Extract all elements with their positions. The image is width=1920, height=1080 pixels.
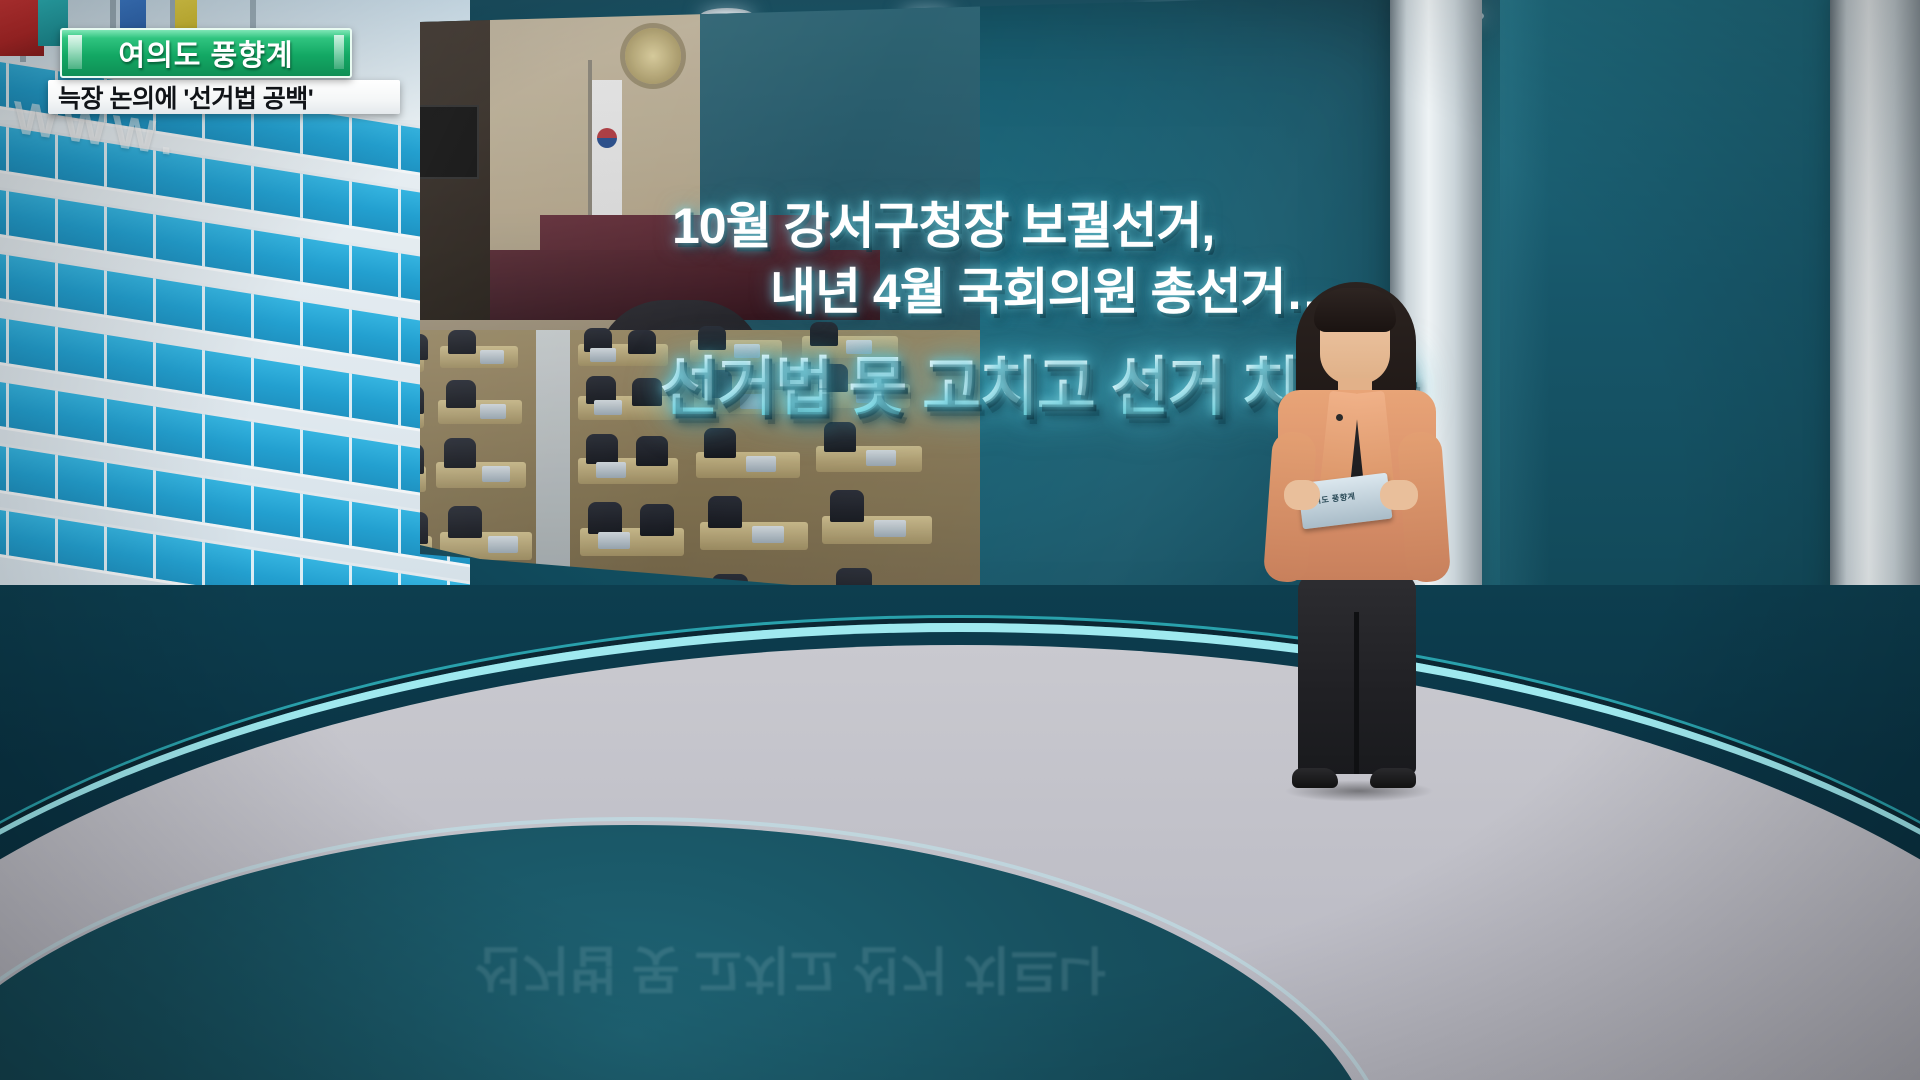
korean-flag-icon bbox=[592, 80, 622, 230]
anchor-leg-split bbox=[1354, 612, 1359, 774]
lapel-microphone-icon bbox=[1336, 414, 1343, 421]
broadcast-screenshot: WWW. bbox=[0, 0, 1920, 1080]
headline-floor-reflection: 선거법 못 고치고 선거 치르나 bbox=[380, 790, 1200, 1000]
news-anchor: 여의도 풍향계 bbox=[1262, 282, 1452, 802]
national-assembly-emblem-icon bbox=[625, 28, 681, 84]
anchor-shoe-right bbox=[1370, 768, 1416, 788]
anchor-hair-front bbox=[1314, 288, 1396, 332]
subtitle-bar: 늑장 논의에 '선거법 공백' bbox=[48, 80, 400, 114]
anchor-shoe-left bbox=[1292, 768, 1338, 788]
subtitle-text: 늑장 논의에 '선거법 공백' bbox=[58, 79, 313, 115]
anchor-hand-left bbox=[1284, 480, 1320, 510]
program-branding-group: 여의도 풍향계 늑장 논의에 '선거법 공백' bbox=[60, 28, 400, 114]
program-badge: 여의도 풍향계 bbox=[60, 28, 352, 78]
program-title: 여의도 풍향계 bbox=[118, 32, 293, 74]
studio-floor: 선거법 못 고치고 선거 치르나 bbox=[0, 585, 1920, 1080]
anchor-hand-right bbox=[1380, 480, 1418, 510]
studio-column bbox=[1830, 0, 1920, 630]
